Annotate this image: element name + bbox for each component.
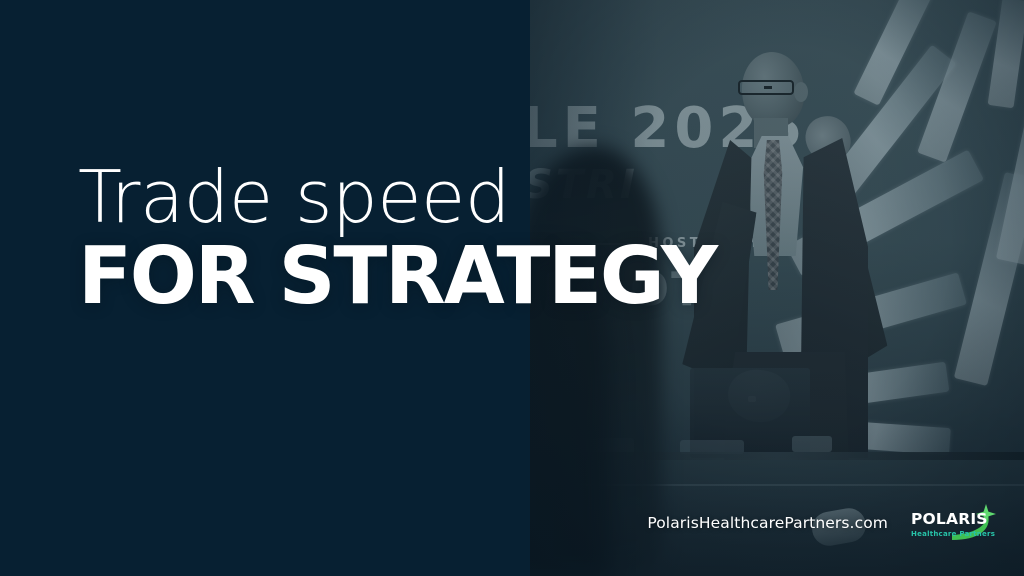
headline-line-2: FOR STRATEGY <box>78 236 716 317</box>
speaker-ear <box>794 82 808 102</box>
logo-text-block: POLARIS Healthcare Partners <box>911 512 995 538</box>
logo-name: POLARIS <box>911 512 995 528</box>
stage-object <box>792 436 832 452</box>
footer-block: PolarisHealthcarePartners.com POLARIS He… <box>647 502 1000 544</box>
logo-tagline: Healthcare Partners <box>911 531 995 538</box>
title-slide: LE 2026 STRI HOSTED BY OTT <box>0 0 1024 576</box>
headline-line-1: Trade speed <box>78 163 716 232</box>
eyeglasses-icon <box>738 80 794 95</box>
polaris-logo[interactable]: POLARIS Healthcare Partners <box>908 502 1000 544</box>
headline-block: Trade speed FOR STRATEGY <box>78 163 716 317</box>
website-url[interactable]: PolarisHealthcarePartners.com <box>647 514 888 532</box>
